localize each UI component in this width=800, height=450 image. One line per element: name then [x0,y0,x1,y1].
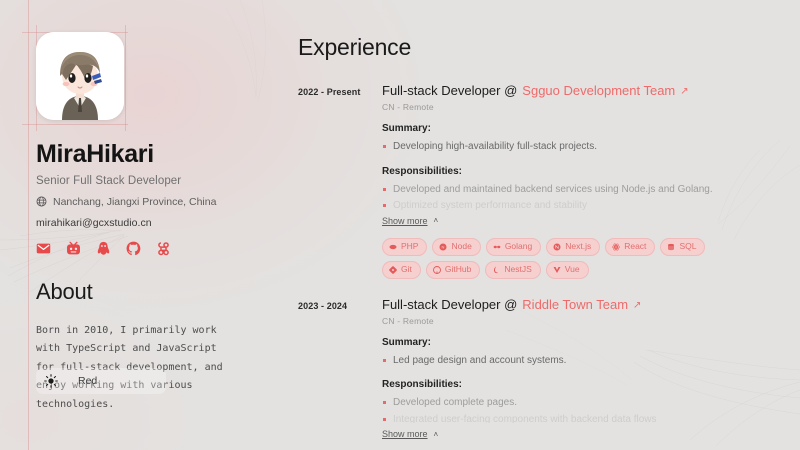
list-item-hidden: Integrated user-facing components with b… [382,412,768,424]
show-more-button[interactable]: Show more ˄ [382,429,438,439]
chevron-up-icon: ˄ [434,216,439,225]
job-role: Full-stack Developer @ [382,297,517,313]
profile-email[interactable]: mirahikari@gcxstudio.cn [36,217,286,229]
tech-tag-label: Golang [505,241,532,253]
avatar-illustration [36,32,124,120]
show-more-button[interactable]: Show more ˄ [382,216,438,226]
tech-tag[interactable]: Git [382,261,421,279]
job-location: CN - Remote [382,102,768,112]
job-date: 2023 - 2024 [298,301,347,311]
location-label: Nanchang, Jiangxi Province, China [53,196,216,208]
tech-tag[interactable]: Next.js [546,238,600,256]
sun-icon [44,374,58,388]
svg-text:N: N [442,244,445,249]
tech-tag[interactable]: SQL [660,238,705,256]
chevron-up-icon: ˄ [434,430,439,439]
theme-toggle[interactable]: Red [36,368,166,394]
show-more-label: Show more [382,216,428,226]
tech-tag[interactable]: Vue [546,261,589,279]
job-title-row: Full-stack Developer @ Sgguo Development… [382,83,768,99]
golang-icon [493,243,501,251]
experience-item: 2023 - 2024 Full-stack Developer @ Riddl… [298,297,768,450]
command-icon[interactable] [156,241,171,256]
external-link-icon[interactable]: ↗ [633,301,641,311]
responsibilities-label: Responsibilities: [382,166,768,177]
avatar[interactable] [36,32,124,120]
list-item-hidden: Optimized system performance and stabili… [382,198,768,210]
tech-tag[interactable]: GitHub [426,261,480,279]
vue-icon [553,266,561,274]
job-role: Full-stack Developer @ [382,83,517,99]
profile-role: Senior Full Stack Developer [36,175,286,187]
experience-heading: Experience [298,34,768,61]
list-item: Led page design and account systems. [382,353,768,369]
theme-label: Red [78,375,97,387]
external-link-icon[interactable]: ↗ [680,87,688,97]
page-title: MiraHikari [36,141,286,169]
tech-tag-label: PHP [401,241,418,253]
job-location: CN - Remote [382,316,768,326]
responsibilities-list: Developed complete pages. Integrated use… [382,395,768,423]
tech-tag-label: Next.js [565,241,591,253]
job-company-link[interactable]: Riddle Town Team [522,297,628,313]
qq-icon[interactable] [96,241,111,256]
github-icon [433,266,441,274]
summary-list: Led page design and account systems. [382,353,768,369]
tech-tag-label: SQL [679,241,696,253]
email-icon[interactable] [36,241,51,256]
job-company-link[interactable]: Sgguo Development Team [522,83,675,99]
job-title-row: Full-stack Developer @ Riddle Town Team … [382,297,768,313]
nextjs-icon [553,243,561,251]
tech-tag[interactable]: React [605,238,655,256]
job-date: 2022 - Present [298,87,360,97]
profile-location: Nanchang, Jiangxi Province, China [36,196,286,208]
github-icon[interactable] [126,241,141,256]
list-item: Developing high-availability full-stack … [382,139,768,155]
tech-tag[interactable]: PHP [382,238,427,256]
experience-item: 2022 - Present Full-stack Developer @ Sg… [298,83,768,279]
bilibili-icon[interactable] [66,241,81,256]
tech-tag[interactable]: NestJS [485,261,540,279]
tech-tag-label: GitHub [445,264,471,276]
about-heading: About [36,279,286,305]
tech-tag-label: Vue [565,264,580,276]
tech-tag[interactable]: NNode [432,238,480,256]
tech-tag-label: NestJS [504,264,531,276]
list-item: Developed complete pages. [382,395,768,411]
globe-icon [36,196,47,207]
node-icon: N [439,243,447,251]
react-icon [612,243,620,251]
sql-icon [667,243,675,251]
summary-list: Developing high-availability full-stack … [382,139,768,155]
summary-label: Summary: [382,337,768,348]
tech-tag-label: React [624,241,646,253]
responsibilities-list: Developed and maintained backend service… [382,182,768,210]
tech-tag-label: Git [401,264,412,276]
profile-sidebar: MiraHikari Senior Full Stack Developer N… [36,0,286,450]
php-icon [389,243,397,251]
responsibilities-label: Responsibilities: [382,379,768,390]
tech-tag[interactable]: Golang [486,238,541,256]
sidebar-vertical-rule [28,0,29,450]
list-item: Developed and maintained backend service… [382,182,768,198]
summary-label: Summary: [382,123,768,134]
nestjs-icon [492,266,500,274]
social-links [36,241,286,256]
tech-tag-list-1: PHPNNodeGolangNext.jsReactSQLGitGitHubNe… [382,238,732,279]
tech-tag-label: Node [451,241,471,253]
git-icon [389,266,397,274]
experience-panel: Experience 2022 - Present Full-stack Dev… [298,0,768,450]
show-more-label: Show more [382,429,428,439]
